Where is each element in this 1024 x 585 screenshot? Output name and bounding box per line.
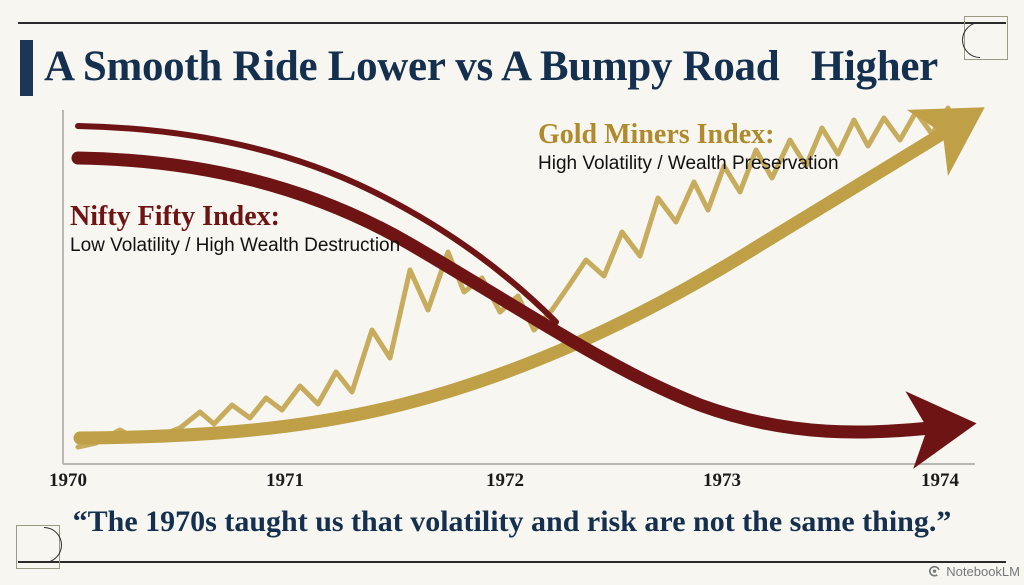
notebooklm-label: NotebookLM [946,564,1020,579]
x-tick-1974: 1974 [921,470,959,492]
x-axis-tick-labels: 1970 1971 1972 1973 1974 [0,470,1024,500]
annotation-nifty-fifty: Nifty Fifty Index: Low Volatility / High… [70,200,400,258]
slide-canvas: A Smooth Ride Lower vs A Bumpy Road High… [0,0,1024,585]
x-tick-1971: 1971 [266,470,304,492]
notebooklm-watermark: NotebookLM [928,564,1020,579]
annotation-gold-subtitle: High Volatility / Wealth Preservation [538,151,839,176]
notebooklm-icon [928,565,941,578]
x-tick-1972: 1972 [486,470,524,492]
annotation-nifty-subtitle: Low Volatility / High Wealth Destruction [70,233,400,258]
annotation-nifty-heading: Nifty Fifty Index: [70,200,400,233]
annotation-gold-miners: Gold Miners Index: High Volatility / Wea… [538,118,839,176]
annotation-gold-heading: Gold Miners Index: [538,118,839,151]
x-tick-1973: 1973 [703,470,741,492]
footer-quote: “The 1970s taught us that volatility and… [0,505,1024,539]
x-tick-1970: 1970 [49,470,87,492]
